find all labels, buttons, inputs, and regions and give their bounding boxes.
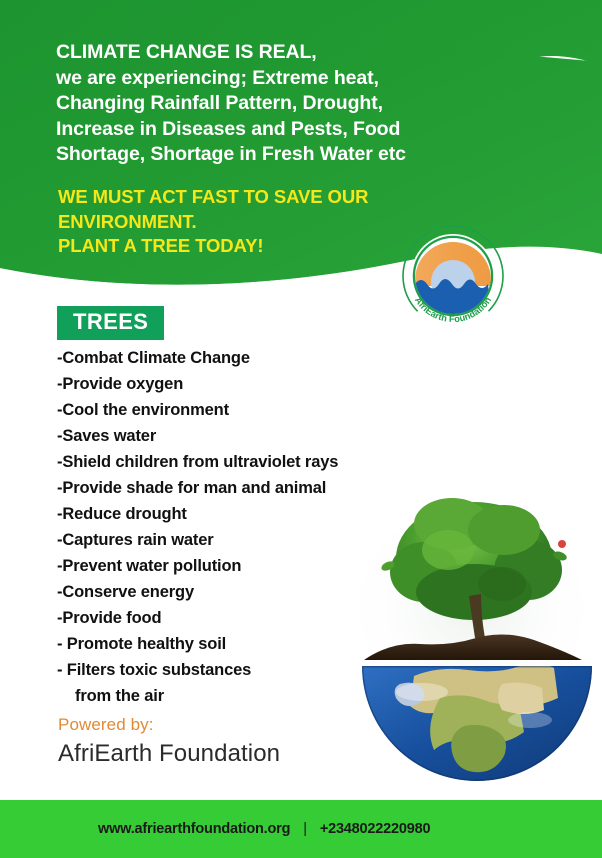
- headline-line-5: Shortage, Shortage in Fresh Water etc: [56, 142, 486, 168]
- headline-line-2: we are experiencing; Extreme heat,: [56, 66, 486, 92]
- tree-planted-in-earth-globe: [352, 488, 602, 798]
- footer-contact-info: www.afriearthfoundation.org | +234802222…: [98, 821, 430, 837]
- logo-emblem-icon: AfriEarth Foundation: [392, 224, 514, 346]
- powered-by-label: Powered by:: [58, 715, 154, 735]
- headline-line-3: Changing Rainfall Pattern, Drought,: [56, 91, 486, 117]
- climate-change-poster: CLIMATE CHANGE IS REAL, we are experienc…: [0, 0, 602, 858]
- trees-section-badge: TREES: [57, 306, 164, 340]
- headline-line-1: CLIMATE CHANGE IS REAL,: [56, 40, 486, 66]
- powered-by-organization: AfriEarth Foundation: [58, 740, 280, 768]
- cta-line-1: WE MUST ACT FAST TO SAVE OUR: [58, 185, 458, 210]
- list-item: -Saves water: [57, 423, 417, 449]
- footer-bar: www.afriearthfoundation.org | +234802222…: [0, 800, 602, 858]
- earth-hemisphere: [362, 663, 592, 781]
- list-item: -Cool the environment: [57, 397, 417, 423]
- footer-separator: |: [303, 821, 307, 837]
- list-item: -Combat Climate Change: [57, 345, 417, 371]
- headline-text: CLIMATE CHANGE IS REAL, we are experienc…: [56, 40, 486, 168]
- footer-phone[interactable]: +2348022220980: [320, 821, 431, 837]
- list-item: -Shield children from ultraviolet rays: [57, 449, 417, 475]
- afriearth-foundation-logo: AfriEarth Foundation: [392, 224, 514, 346]
- headline-line-4: Increase in Diseases and Pests, Food: [56, 117, 486, 143]
- tree-globe-illustration: [352, 488, 602, 798]
- list-item: -Provide oxygen: [57, 371, 417, 397]
- footer-website[interactable]: www.afriearthfoundation.org: [98, 821, 290, 837]
